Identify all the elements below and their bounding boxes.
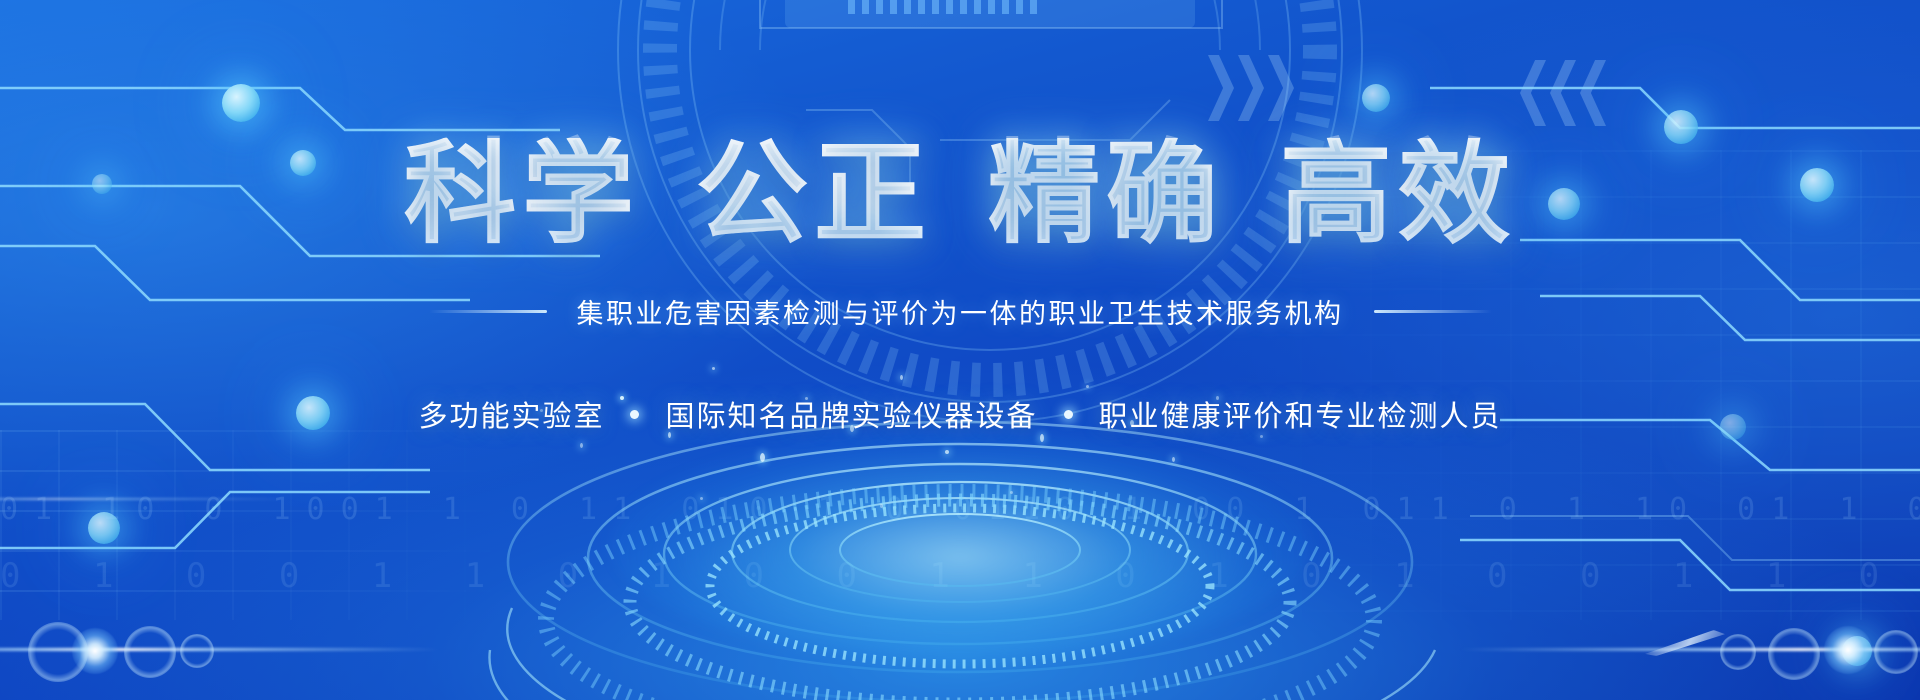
feature-list: 多功能实验室 国际知名品牌实验仪器设备 职业健康评价和专业检测人员 xyxy=(418,393,1501,435)
subtitle-row: 集职业危害因素检测与评价为一体的职业卫生技术服务机构 xyxy=(429,292,1492,331)
feature-item-3: 职业健康评价和专业检测人员 xyxy=(1099,393,1502,435)
headline-word-3: 精确 xyxy=(988,138,1224,250)
feature-item-2: 国际知名品牌实验仪器设备 xyxy=(665,393,1037,435)
headline: 科学 公正 精确 高效 xyxy=(404,138,1516,250)
divider-line-right xyxy=(1374,310,1492,313)
banner-content: 科学 公正 精确 高效 集职业危害因素检测与评价为一体的职业卫生技术服务机构 多… xyxy=(0,0,1920,700)
headline-word-1: 科学 xyxy=(404,138,640,250)
banner-stage: 01 10 0 1001 1 0 11 010 1 0 0110 1 00 1 … xyxy=(0,0,1920,700)
subtitle-text: 集职业危害因素检测与评价为一体的职业卫生技术服务机构 xyxy=(577,292,1344,331)
headline-word-2: 公正 xyxy=(696,138,932,250)
feature-item-1: 多功能实验室 xyxy=(418,393,604,435)
headline-word-4: 高效 xyxy=(1280,138,1516,250)
bullet-dot-icon xyxy=(1064,410,1073,419)
divider-line-left xyxy=(429,310,547,313)
bullet-dot-icon xyxy=(630,410,639,419)
